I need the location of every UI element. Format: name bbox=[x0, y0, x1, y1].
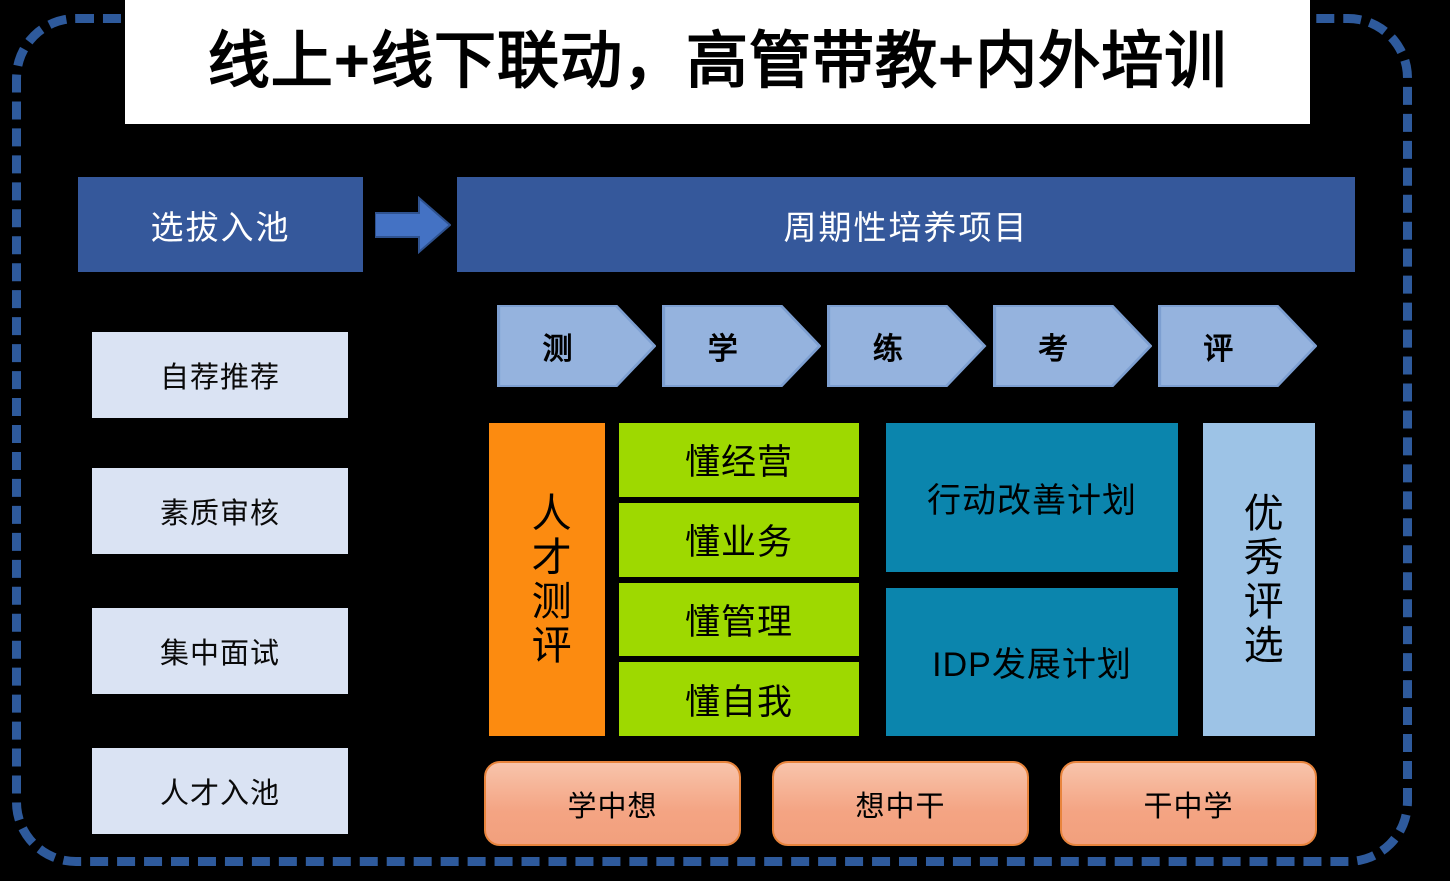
diagram-canvas: 线上+线下联动，高管带教+内外培训 选拔入池 自荐推荐 素质审核 集中面试 人才… bbox=[0, 0, 1450, 881]
plan-item: IDP发展计划 bbox=[886, 588, 1178, 737]
chevron-step: 练 bbox=[827, 305, 986, 387]
learning-cycle-label: 想中干 bbox=[855, 783, 945, 825]
chevron-step: 学 bbox=[662, 305, 821, 387]
chevron-step-label: 考 bbox=[993, 305, 1114, 387]
right-column-header-label: 周期性培养项目 bbox=[784, 201, 1029, 249]
left-step-label: 集中面试 bbox=[160, 630, 280, 672]
chevron-step-label: 评 bbox=[1158, 305, 1279, 387]
learning-cycle-label: 学中想 bbox=[567, 783, 657, 825]
learning-cycle-row: 学中想 想中干 干中学 bbox=[484, 761, 1317, 846]
skill-item: 懂自我 bbox=[619, 662, 859, 736]
page-title: 线上+线下联动，高管带教+内外培训 bbox=[208, 31, 1227, 93]
right-arrow-icon bbox=[375, 196, 451, 254]
chevron-step: 考 bbox=[993, 305, 1152, 387]
chevron-step: 测 bbox=[497, 305, 656, 387]
left-step-item: 自荐推荐 bbox=[92, 332, 348, 418]
skill-item-label: 懂业务 bbox=[685, 514, 793, 565]
learning-cycle-item: 干中学 bbox=[1060, 761, 1317, 846]
chevron-step: 评 bbox=[1158, 305, 1317, 387]
skill-item: 懂经营 bbox=[619, 423, 859, 497]
skill-list: 懂经营 懂业务 懂管理 懂自我 bbox=[619, 423, 859, 736]
excellence-award-label: 优秀评选 bbox=[1237, 492, 1280, 668]
left-step-item: 人才入池 bbox=[92, 748, 348, 834]
plan-item-label: 行动改善计划 bbox=[927, 473, 1137, 522]
chevron-step-label: 学 bbox=[662, 305, 783, 387]
excellence-award-box: 优秀评选 bbox=[1203, 423, 1315, 736]
talent-assessment-label: 人才测评 bbox=[525, 492, 568, 668]
chevron-step-label: 测 bbox=[497, 305, 618, 387]
left-step-label: 人才入池 bbox=[160, 770, 280, 812]
left-step-item: 素质审核 bbox=[92, 468, 348, 554]
skill-item-label: 懂自我 bbox=[685, 674, 793, 725]
learning-cycle-item: 学中想 bbox=[484, 761, 741, 846]
skill-item: 懂管理 bbox=[619, 583, 859, 657]
skill-item-label: 懂管理 bbox=[685, 594, 793, 645]
plan-item-label: IDP发展计划 bbox=[932, 637, 1132, 686]
plan-list: 行动改善计划 IDP发展计划 bbox=[886, 423, 1178, 736]
skill-item: 懂业务 bbox=[619, 503, 859, 577]
left-step-item: 集中面试 bbox=[92, 608, 348, 694]
learning-cycle-label: 干中学 bbox=[1143, 783, 1233, 825]
talent-assessment-box: 人才测评 bbox=[489, 423, 605, 736]
chevron-step-label: 练 bbox=[827, 305, 948, 387]
title-banner: 线上+线下联动，高管带教+内外培训 bbox=[125, 0, 1310, 124]
chevron-process-row: 测 学 练 考 评 bbox=[497, 305, 1317, 387]
right-column-header: 周期性培养项目 bbox=[457, 177, 1355, 272]
plan-item: 行动改善计划 bbox=[886, 423, 1178, 572]
left-step-label: 素质审核 bbox=[160, 490, 280, 532]
skill-item-label: 懂经营 bbox=[685, 434, 793, 485]
left-step-label: 自荐推荐 bbox=[160, 354, 280, 396]
left-column-header: 选拔入池 bbox=[78, 177, 363, 272]
learning-cycle-item: 想中干 bbox=[772, 761, 1029, 846]
left-column-header-label: 选拔入池 bbox=[151, 201, 291, 249]
